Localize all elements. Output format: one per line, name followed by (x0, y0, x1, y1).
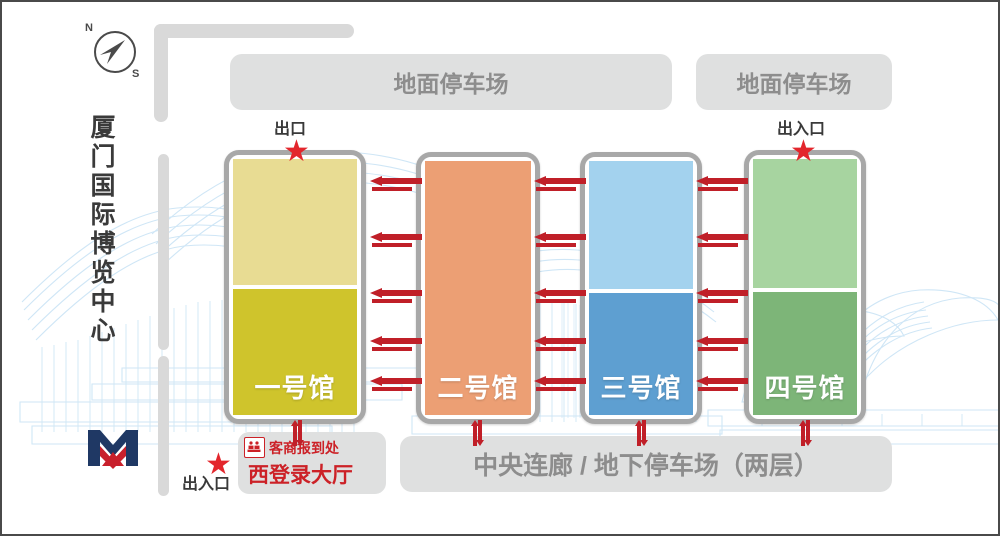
surface-parking-right: 地面停车场 (696, 54, 892, 110)
hall-4[interactable]: 四号馆 (744, 150, 866, 424)
hall-2-label: 二号馆 (425, 368, 531, 405)
venue-title-char-5: 览 (86, 259, 120, 288)
vertical-connector-hall-4 (798, 420, 814, 446)
vertical-connector-hall-1 (290, 420, 306, 446)
hall-1[interactable]: 一号馆 (224, 150, 366, 424)
road-left-bottom-vertical (158, 356, 169, 496)
hall-4-label: 四号馆 (753, 368, 857, 405)
venue-title-char-7: 心 (86, 317, 120, 346)
venue-title-char-0: 厦 (86, 114, 120, 143)
hall-3-segment-lower: 三号馆 (589, 293, 693, 415)
connector-arrows-hall1-hall2 (368, 170, 426, 394)
red-star-icon-entry-hall4: ★ (790, 137, 817, 167)
hall-2[interactable]: 二号馆 (416, 152, 540, 424)
venue-title: 厦 门 国 际 博 览 中 心 (86, 114, 120, 346)
hall-3-segment-upper (589, 161, 693, 289)
road-top-horizontal (154, 24, 354, 38)
vertical-connector-hall-3 (634, 420, 650, 446)
venue-title-char-1: 门 (86, 143, 120, 172)
floor-plan-map: N S 厦 门 国 际 博 览 中 心 地面停车场 地面停车场 中央连廊 / 地… (0, 0, 1000, 536)
compass-south-label: S (132, 68, 139, 80)
surface-parking-left: 地面停车场 (230, 54, 672, 110)
red-star-icon-entry-west: ★ (205, 450, 232, 480)
west-registration-hall[interactable]: 客商报到处 西登录大厅 (238, 432, 386, 494)
hall-1-segment-lower: 一号馆 (233, 289, 357, 415)
hall-4-segment-lower: 四号馆 (753, 292, 857, 415)
hall-1-segment-upper (233, 159, 357, 285)
connector-arrows-hall3-hall4 (694, 170, 752, 394)
hall-3-label: 三号馆 (589, 368, 693, 405)
road-left-upper-vertical (154, 24, 168, 122)
hall-4-segment-upper (753, 159, 857, 288)
road-left-lower-vertical (158, 154, 169, 350)
hall-1-label: 一号馆 (233, 368, 357, 405)
hall-2-segment-main: 二号馆 (425, 161, 531, 415)
venue-title-char-3: 际 (86, 201, 120, 230)
venue-title-char-4: 博 (86, 230, 120, 259)
vertical-connector-hall-2 (470, 420, 486, 446)
west-hall-title: 西登录大厅 (244, 459, 353, 489)
venue-title-char-6: 中 (86, 288, 120, 317)
registration-desk-icon (244, 437, 265, 458)
compass-rose: N S (84, 22, 144, 84)
hall-3[interactable]: 三号馆 (580, 152, 702, 424)
xiamen-expo-logo-icon (84, 426, 142, 470)
compass-north-label: N (85, 22, 93, 34)
venue-title-char-2: 国 (86, 172, 120, 201)
connector-arrows-hall2-hall3 (532, 170, 590, 394)
red-star-icon-exit-hall1: ★ (283, 137, 310, 167)
